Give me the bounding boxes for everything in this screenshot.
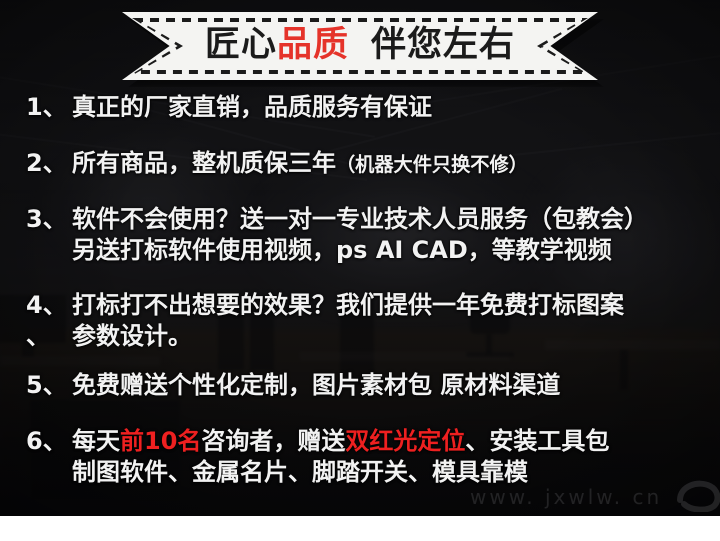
list-item-line: 另送打标软件使用视频，ps AI CAD，等教学视频 (26, 235, 648, 266)
list-item: 4、打标打不出想要的效果？我们提供一年免费打标图案、参数设计。 (26, 290, 624, 352)
highlighted-text: 前10名 (120, 427, 201, 455)
list-item-text: 所有商品，整机质保三年 (72, 149, 336, 177)
list-item-line: 4、打标打不出想要的效果？我们提供一年免费打标图案 (26, 290, 624, 321)
list-item-line: 6、每天前10名咨询者，赠送双红光定位、安装工具包 (26, 426, 609, 457)
list-item-text: 咨询者，赠送 (201, 427, 345, 455)
list-item-line: 5、免费赠送个性化定制，图片素材包 原材料渠道 (26, 370, 560, 401)
list-item-line: 3、软件不会使用？送一对一专业技术人员服务（包教会） (26, 204, 648, 235)
list-item-line: 2、所有商品，整机质保三年（机器大件只换不修） (26, 148, 528, 180)
banner-title-part2: 伴您左右 (371, 25, 515, 65)
list-item-line: 、参数设计。 (26, 321, 624, 352)
banner-title-highlight: 品质 (277, 25, 349, 65)
banner-title: 匠心品质伴您左右 (205, 28, 515, 65)
list-item-text: 制图软件、金属名片、脚踏开关、模具靠模 (72, 458, 528, 486)
list-item-text: 另送打标软件使用视频，ps AI CAD，等教学视频 (72, 236, 612, 264)
list-item-line: 制图软件、金属名片、脚踏开关、模具靠模 (26, 457, 609, 488)
list-item-number: 2、 (26, 148, 72, 179)
list-item-number: 5、 (26, 370, 72, 401)
list-item-text: 打标打不出想要的效果？我们提供一年免费打标图案 (72, 291, 624, 319)
list-item-number: 6、 (26, 426, 72, 457)
ribbon-body: 匠心品质伴您左右 (122, 12, 598, 80)
banner-title-part1: 匠心 (205, 25, 277, 65)
list-item: 2、所有商品，整机质保三年（机器大件只换不修） (26, 148, 528, 180)
highlighted-text: 双红光定位 (345, 427, 465, 455)
list-item-text: 免费赠送个性化定制，图片素材包 原材料渠道 (72, 371, 560, 399)
promo-banner-image: 匠心品质伴您左右 1、真正的厂家直销，品质服务有保证2、所有商品，整机质保三年（… (0, 0, 720, 541)
bottom-white-strip (0, 516, 720, 541)
list-item-number: 4、 (26, 290, 72, 321)
list-item: 3、软件不会使用？送一对一专业技术人员服务（包教会）另送打标软件使用视频，ps … (26, 204, 648, 266)
list-item-text: 软件不会使用？送一对一专业技术人员服务（包教会） (72, 205, 648, 233)
list-item-number: 3、 (26, 204, 72, 235)
list-item-text: 参数设计。 (72, 322, 192, 350)
list-item: 6、每天前10名咨询者，赠送双红光定位、安装工具包制图软件、金属名片、脚踏开关、… (26, 426, 609, 488)
list-item-text: 真正的厂家直销，品质服务有保证 (72, 93, 432, 121)
list-item-number-continuation: 、 (26, 321, 72, 352)
list-item-text: 每天 (72, 427, 120, 455)
watermark-logo-icon (676, 478, 720, 512)
note-text: （机器大件只换不修） (336, 153, 528, 176)
list-item-line: 1、真正的厂家直销，品质服务有保证 (26, 92, 432, 123)
list-item: 5、免费赠送个性化定制，图片素材包 原材料渠道 (26, 370, 560, 401)
list-item-number: 1、 (26, 92, 72, 123)
ribbon-banner: 匠心品质伴您左右 (122, 12, 598, 80)
list-item-text: 、安装工具包 (465, 427, 609, 455)
watermark-url: www. jxwlw. cn (470, 485, 662, 509)
list-item: 1、真正的厂家直销，品质服务有保证 (26, 92, 432, 123)
